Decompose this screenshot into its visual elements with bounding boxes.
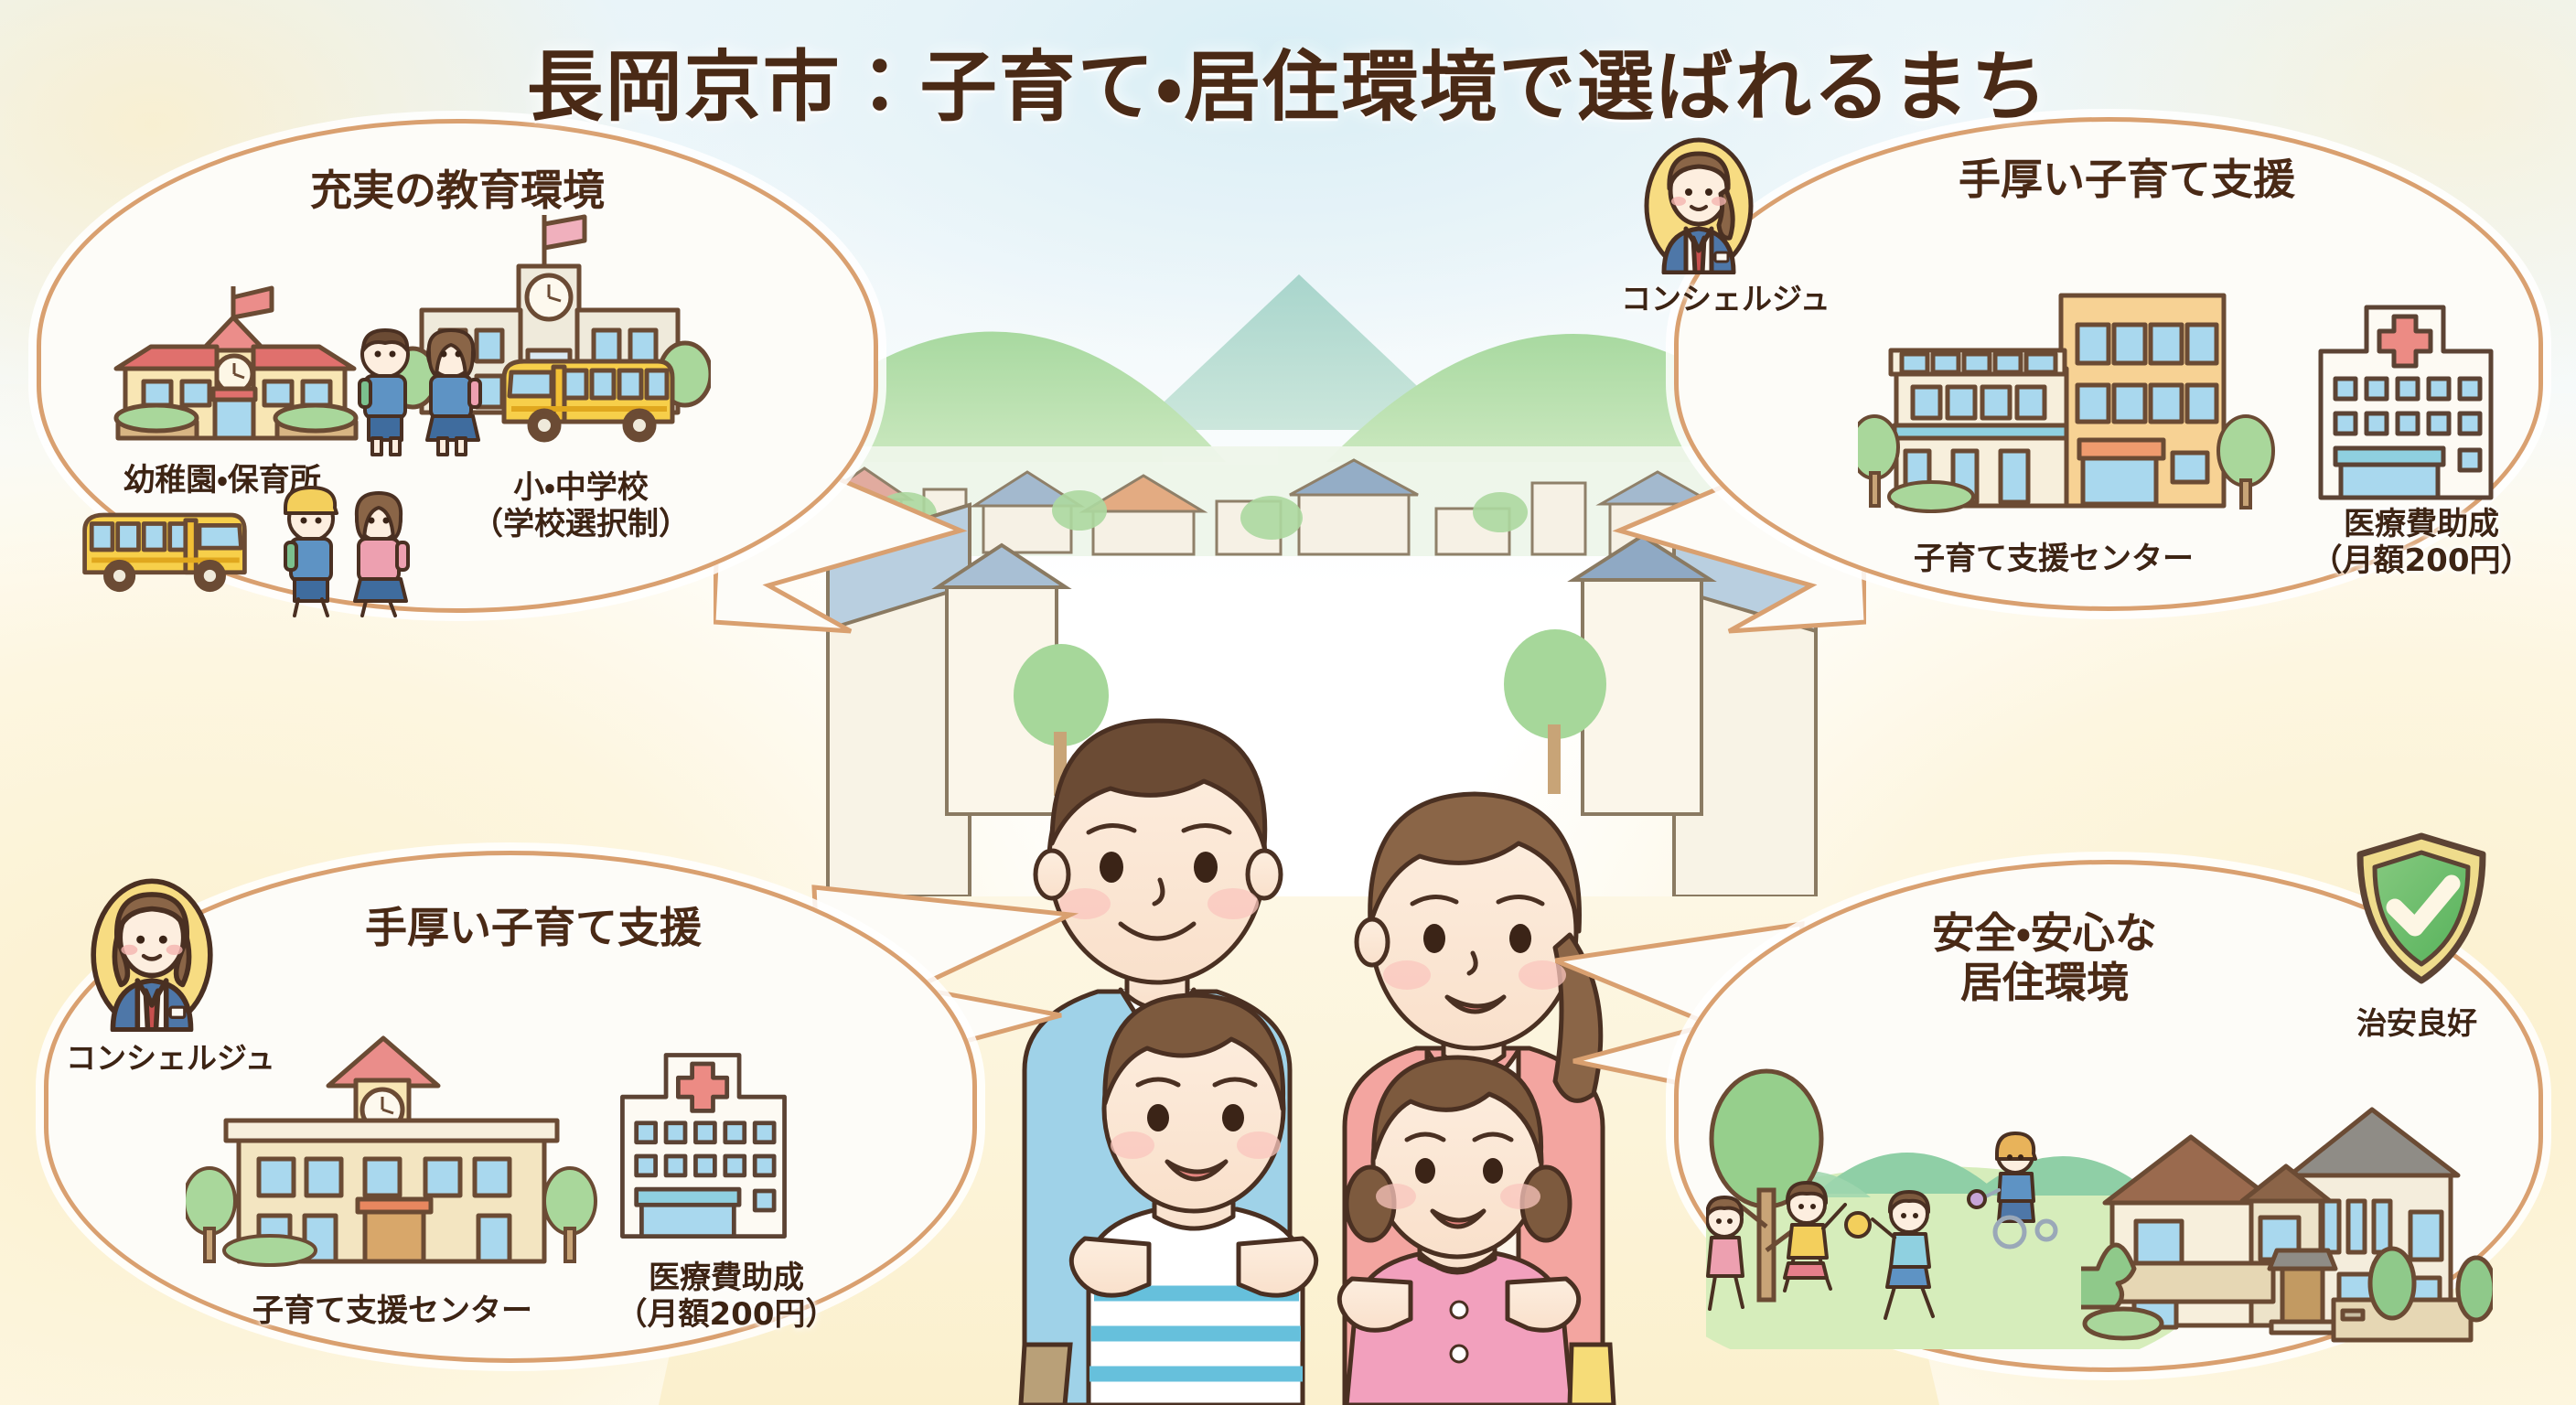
bubble-education[interactable]: 充実の教育環境 xyxy=(37,119,878,613)
school-bus-icon xyxy=(497,343,680,453)
concierge-label: コンシェルジュ xyxy=(1621,274,1830,318)
tag-medical-subsidy: 医療費助成 （月額200円） xyxy=(2293,506,2549,579)
concierge-avatar-icon xyxy=(88,878,216,1032)
kindergarten-icon xyxy=(98,279,381,457)
bubble-safety-title: 安全・安心な 居住環境 xyxy=(1761,908,2328,1008)
pupils-icon xyxy=(345,323,491,460)
tag-medical-subsidy: 医療費助成 （月額200円） xyxy=(594,1260,859,1333)
bubble-support-top-title: 手厚い子育て支援 xyxy=(1788,155,2465,204)
concierge-label: コンシェルジュ xyxy=(66,1034,275,1078)
shield-check-icon xyxy=(2353,831,2490,986)
pupils-icon xyxy=(266,482,422,619)
school-bus-icon xyxy=(78,497,252,603)
security-label: 治安良好 xyxy=(2356,999,2477,1043)
hospital-icon xyxy=(2310,291,2502,515)
tag-support-center: 子育て支援センター xyxy=(1816,541,2292,577)
bubble-support-top[interactable]: 手厚い子育て支援 xyxy=(1674,117,2543,611)
support-center-icon xyxy=(1858,277,2297,533)
tag-support-center: 子育て支援センター xyxy=(145,1292,639,1329)
house-icon xyxy=(2081,1093,2493,1367)
hospital-icon xyxy=(612,1036,795,1256)
infographic-poster: 長岡京市：子育て・居住環境で選ばれるまち xyxy=(0,0,2576,1405)
tag-school: 小・中学校 （学校選択制） xyxy=(435,469,727,542)
bubble-support-bottom-title: 手厚い子育て支援 xyxy=(186,903,881,952)
bubble-education-title: 充実の教育環境 xyxy=(41,166,874,215)
concierge-avatar-icon xyxy=(1642,137,1755,274)
page-title: 長岡京市：子育て・居住環境で選ばれるまち xyxy=(0,26,2576,136)
